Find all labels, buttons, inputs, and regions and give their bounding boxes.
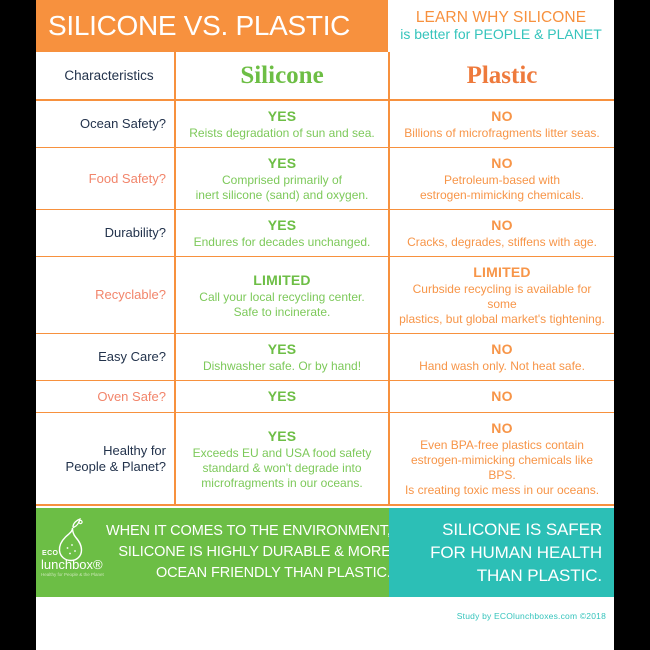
table-body: CharacteristicsSiliconePlasticOcean Safe… [36,52,614,505]
verdict-silicone: LIMITED [184,271,380,290]
table-row: Durability?YESEndures for decades unchan… [36,210,614,257]
table-row: Healthy forPeople & Planet?YESExceeds EU… [36,413,614,506]
table-row: Oven Safe?YESNO [36,381,614,413]
infographic-poster: SILICONE VS. PLASTIC LEARN WHY SILICONE … [36,0,614,650]
verdict-silicone: YES [184,107,380,126]
cell-silicone: YESEndures for decades unchanged. [175,210,389,257]
cell-silicone: YESDishwasher safe. Or by hand! [175,334,389,381]
detail-silicone: Comprised primarily ofinert silicone (sa… [184,173,380,203]
row-characteristic-label: Easy Care? [36,334,175,381]
table-row: Ocean Safety?YESReists degradation of su… [36,100,614,148]
cell-plastic: NOCracks, degrades, stiffens with age. [389,210,614,257]
cell-plastic: LIMITEDCurbside recycling is available f… [389,257,614,334]
cell-plastic: NOHand wash only. Not heat safe. [389,334,614,381]
verdict-plastic: NO [398,107,606,126]
verdict-silicone: YES [184,216,380,235]
verdict-silicone: YES [184,427,380,446]
row-characteristic-label: Durability? [36,210,175,257]
title-bar: SILICONE VS. PLASTIC LEARN WHY SILICONE … [36,0,614,52]
table-row: Food Safety?YESComprised primarily ofine… [36,148,614,210]
verdict-plastic: NO [398,419,606,438]
row-characteristic-label: Ocean Safety? [36,100,175,148]
cell-silicone: LIMITEDCall your local recycling center.… [175,257,389,334]
table-row: Easy Care?YESDishwasher safe. Or by hand… [36,334,614,381]
header-plastic: Plastic [389,52,614,100]
teal-banner-text: SILICONE IS SAFERFOR HUMAN HEALTHTHAN PL… [389,508,614,597]
detail-plastic: Cracks, degrades, stiffens with age. [398,235,606,250]
subhead-line-2: is better for PEOPLE & PLANET [400,26,602,43]
detail-plastic: Even BPA-free plastics containestrogen-m… [398,438,606,498]
verdict-plastic: NO [398,154,606,173]
detail-silicone: Exceeds EU and USA food safetystandard &… [184,446,380,491]
logo-tagline: Healthy for People & the Planet [41,571,104,578]
cell-plastic: NO [389,381,614,413]
verdict-silicone: YES [184,387,380,406]
cell-silicone: YESExceeds EU and USA food safetystandar… [175,413,389,506]
detail-silicone: Dishwasher safe. Or by hand! [184,359,380,374]
detail-plastic: Hand wash only. Not heat safe. [398,359,606,374]
ecolunchbox-logo: ECO lunchbox® Healthy for People & the P… [36,518,106,588]
cell-silicone: YESReists degradation of sun and sea. [175,100,389,148]
detail-plastic: Curbside recycling is available for some… [398,282,606,327]
row-characteristic-label: Healthy forPeople & Planet? [36,413,175,506]
cell-silicone: YES [175,381,389,413]
study-credit: Study by ECOlunchboxes.com ©2018 [36,597,614,621]
detail-silicone: Call your local recycling center.Safe to… [184,290,380,320]
green-banner: ECO lunchbox® Healthy for People & the P… [36,508,389,597]
green-banner-text: WHEN IT COMES TO THE ENVIRONMENT,SILICON… [106,521,405,584]
detail-silicone: Reists degradation of sun and sea. [184,126,380,141]
page-title: SILICONE VS. PLASTIC [36,0,388,52]
title-subhead: LEARN WHY SILICONE is better for PEOPLE … [388,0,614,52]
cell-plastic: NOPetroleum-based withestrogen-mimicking… [389,148,614,210]
footer-banners: ECO lunchbox® Healthy for People & the P… [36,508,614,597]
table-header-row: CharacteristicsSiliconePlastic [36,52,614,100]
verdict-silicone: YES [184,154,380,173]
row-characteristic-label: Food Safety? [36,148,175,210]
verdict-plastic: NO [398,340,606,359]
header-silicone: Silicone [175,52,389,100]
logo-wordmark: lunchbox® [41,558,103,571]
detail-silicone: Endures for decades unchanged. [184,235,380,250]
header-characteristics: Characteristics [36,52,175,100]
cell-plastic: NOBillions of microfragments litter seas… [389,100,614,148]
verdict-silicone: YES [184,340,380,359]
row-characteristic-label: Oven Safe? [36,381,175,413]
cell-plastic: NOEven BPA-free plastics containestrogen… [389,413,614,506]
table-row: Recyclable?LIMITEDCall your local recycl… [36,257,614,334]
verdict-plastic: LIMITED [398,263,606,282]
detail-plastic: Petroleum-based withestrogen-mimicking c… [398,173,606,203]
detail-plastic: Billions of microfragments litter seas. [398,126,606,141]
verdict-plastic: NO [398,216,606,235]
cell-silicone: YESComprised primarily ofinert silicone … [175,148,389,210]
subhead-line-1: LEARN WHY SILICONE [416,9,586,26]
verdict-plastic: NO [398,387,606,406]
row-characteristic-label: Recyclable? [36,257,175,334]
comparison-table: CharacteristicsSiliconePlasticOcean Safe… [36,52,614,506]
